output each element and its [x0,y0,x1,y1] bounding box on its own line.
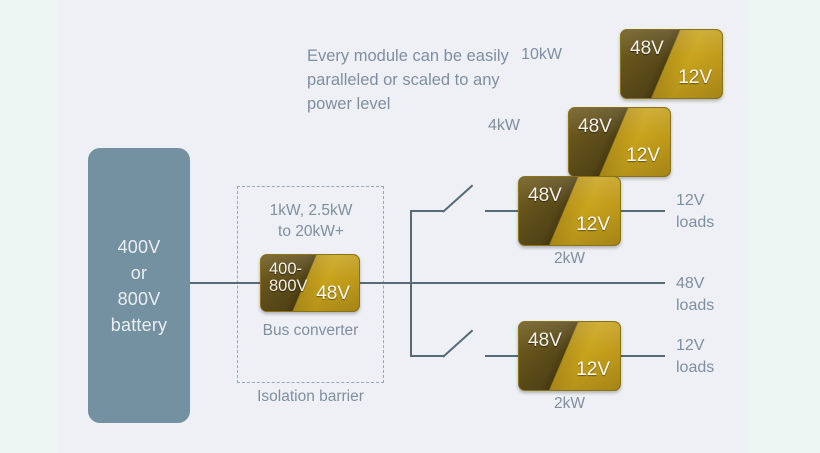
battery-block: 400V or 800V battery [88,148,190,423]
module-4kw-power-label: 4kW [458,117,520,135]
bus-converter-module[interactable]: 400- 800V 48V [260,254,360,312]
battery-label: 400V or 800V battery [111,234,167,338]
bus-converter-output-voltage: 48V [316,284,350,304]
module-10kw[interactable]: 48V 12V [620,29,723,99]
load-12v-bottom-label: 12V loads [676,335,714,379]
load-48v-middle-label: 48V loads [676,273,714,317]
bus-converter-caption: Bus converter [237,322,384,340]
load-48v-middle-line2: loads [676,295,714,317]
wire-top-branch-stub [410,210,444,212]
wire-switch-to-module-bottom [485,355,518,357]
module-10kw-power-label: 10kW [500,46,562,64]
module-2kw-bottom-power-label: 2kW [518,395,621,413]
load-12v-top-label: 12V loads [676,190,714,234]
load-12v-bottom-line1: 12V [676,335,714,357]
diagram-canvas: 400V or 800V battery Every module can be… [0,0,820,453]
power-range-label: 1kW, 2.5kW to 20kW+ [240,200,382,242]
wire-48v-bus-main [359,282,665,284]
bus-converter-input-voltage: 400- 800V [269,261,308,295]
module-10kw-input-voltage: 48V [630,39,664,59]
module-2kw-bottom[interactable]: 48V 12V [518,321,621,391]
load-12v-bottom-line2: loads [676,357,714,379]
wire-vertical-bus [410,211,412,357]
isolation-barrier-caption: Isolation barrier [237,388,384,406]
module-4kw-input-voltage: 48V [578,117,612,137]
load-48v-middle-line1: 48V [676,273,714,295]
wire-module-to-12v-loads-top [620,210,665,212]
wire-switch-to-module-top [485,210,518,212]
load-12v-top-line2: loads [676,212,714,234]
module-4kw[interactable]: 48V 12V [568,107,671,177]
module-2kw-bottom-input-voltage: 48V [528,331,562,351]
wire-module-to-12v-loads-bottom [620,355,665,357]
module-2kw-top-input-voltage: 48V [528,186,562,206]
module-10kw-output-voltage: 12V [678,68,712,88]
wire-battery-to-bus [190,282,262,284]
load-12v-top-line1: 12V [676,190,714,212]
module-2kw-top-output-voltage: 12V [576,215,610,235]
module-2kw-top[interactable]: 48V 12V [518,176,621,246]
module-4kw-output-voltage: 12V [626,146,660,166]
wire-bottom-branch-stub [410,355,444,357]
module-2kw-bottom-output-voltage: 12V [576,360,610,380]
module-2kw-top-power-label: 2kW [518,250,621,268]
